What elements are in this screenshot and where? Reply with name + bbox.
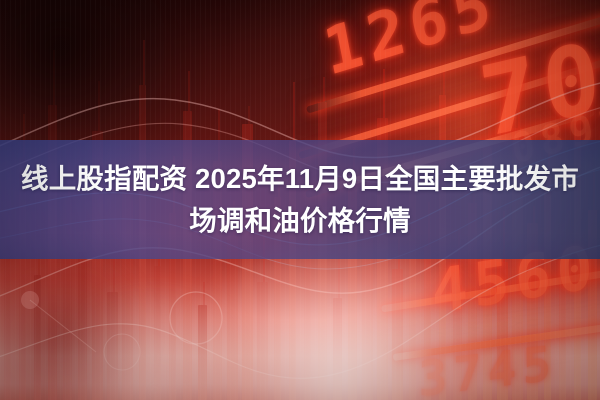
article-cover-banner: 126570456037450892 线上股指配资 2025年11月9日全国主要… [0,0,600,400]
led-digit-group: 3745 [418,335,558,400]
title-line-2: 场调和油价格行情 [189,200,411,242]
banner-title: 线上股指配资 2025年11月9日全国主要批发市 场调和油价格行情 [0,140,600,259]
title-line-1: 线上股指配资 2025年11月9日全国主要批发市 [21,158,579,200]
